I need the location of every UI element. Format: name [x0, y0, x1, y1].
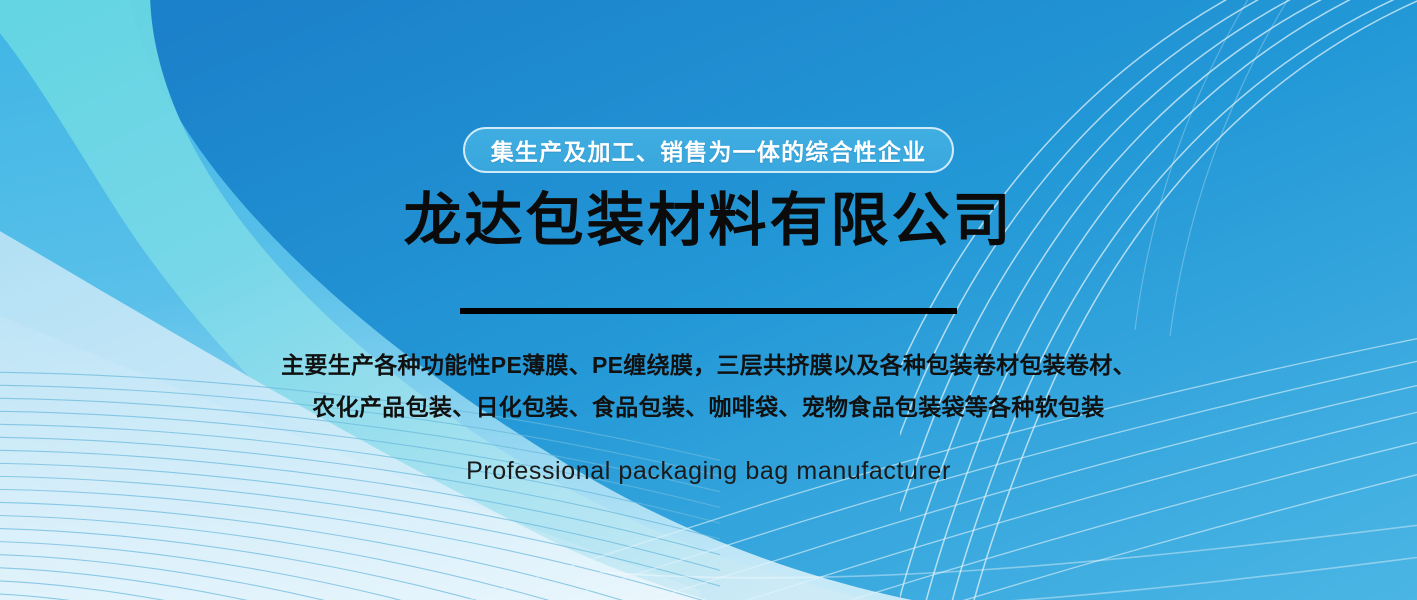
description-line-1: 主要生产各种功能性PE薄膜、PE缠绕膜，三层共挤膜以及各种包装卷材包装卷材、	[0, 344, 1417, 387]
business-description: 主要生产各种功能性PE薄膜、PE缠绕膜，三层共挤膜以及各种包装卷材包装卷材、 农…	[0, 344, 1417, 429]
banner-content: 集生产及加工、销售为一体的综合性企业 龙达包装材料有限公司 主要生产各种功能性P…	[0, 0, 1417, 600]
title-underline-rule	[460, 308, 957, 314]
english-tagline: Professional packaging bag manufacturer	[466, 457, 951, 486]
description-line-2: 农化产品包装、日化包装、食品包装、咖啡袋、宠物食品包装袋等各种软包装	[0, 386, 1417, 429]
tagline-badge: 集生产及加工、销售为一体的综合性企业	[463, 127, 955, 173]
company-name-heading: 龙达包装材料有限公司	[403, 191, 1013, 252]
promo-banner: 集生产及加工、销售为一体的综合性企业 龙达包装材料有限公司 主要生产各种功能性P…	[0, 0, 1417, 600]
